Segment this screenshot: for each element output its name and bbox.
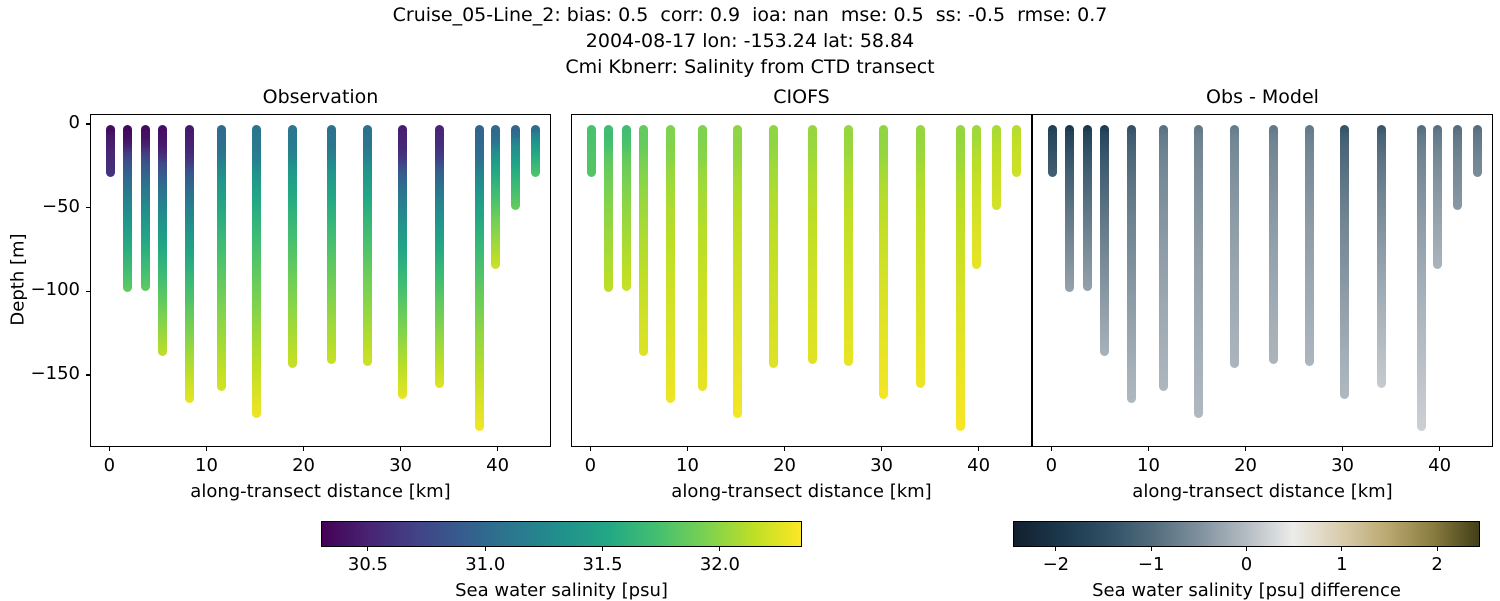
x-axis-tick-label: 0	[550, 455, 630, 476]
x-axis-tick	[687, 447, 688, 451]
ctd-cast-profile	[1473, 125, 1482, 177]
ctd-cast-profile	[1083, 125, 1092, 291]
ctd-cast-profile	[1305, 125, 1314, 366]
ctd-cast-profile	[769, 125, 778, 368]
ctd-cast-profile	[1012, 125, 1021, 177]
ctd-cast-profile	[666, 125, 675, 403]
ctd-cast-profile	[639, 125, 648, 356]
x-axis-tick-label: 10	[166, 455, 246, 476]
panel-title-ciofs: CIOFS	[571, 86, 1032, 108]
x-axis-tick-label: 40	[458, 455, 538, 476]
x-axis-tick-label: 40	[1400, 455, 1480, 476]
figure-suptitle-line-2: 2004-08-17 lon: -153.24 lat: 58.84	[0, 30, 1500, 52]
ctd-cast-profile	[106, 125, 115, 177]
colorbar-tick-label: −1	[1111, 554, 1191, 575]
ctd-cast-profile	[1269, 125, 1278, 364]
colorbar-tick	[367, 547, 368, 551]
ctd-cast-profile	[185, 125, 194, 403]
y-axis-tick-label: −50	[0, 196, 80, 217]
colorbar-tick	[1246, 547, 1247, 551]
figure-suptitle-line-1: Cruise_05-Line_2: bias: 0.5 corr: 0.9 io…	[0, 4, 1500, 26]
x-axis-tick	[978, 447, 979, 451]
y-axis-tick-label: −150	[0, 363, 80, 384]
x-axis-tick	[109, 447, 110, 451]
ctd-cast-profile	[844, 125, 853, 366]
colorbar-tick-label: 32.0	[680, 554, 760, 575]
ctd-cast-profile	[1065, 125, 1074, 292]
ctd-cast-profile	[916, 125, 925, 388]
colorbar-tick-label: 1	[1302, 554, 1382, 575]
ctd-cast-profile	[622, 125, 631, 291]
x-axis-tick	[1051, 447, 1052, 451]
ctd-cast-profile	[435, 125, 444, 388]
ctd-cast-profile	[531, 125, 540, 177]
x-axis-tick	[1439, 447, 1440, 451]
ctd-cast-profile	[1417, 125, 1426, 431]
colorbar-label-salinity-difference: Sea water salinity [psu] difference	[1013, 580, 1480, 601]
ctd-cast-profile	[698, 125, 707, 391]
plot-area-observation	[91, 115, 550, 446]
x-axis-tick	[206, 447, 207, 451]
colorbar-tick-label: 2	[1397, 554, 1477, 575]
y-axis-tick-label: 0	[0, 112, 80, 133]
colorbar-tick-label: 31.5	[563, 554, 643, 575]
y-axis-tick	[86, 291, 90, 292]
colorbar-tick	[602, 547, 603, 551]
ctd-cast-profile	[288, 125, 297, 368]
plot-area-obs-minus-model	[1033, 115, 1492, 446]
colorbar-tick-label: 0	[1207, 554, 1287, 575]
ctd-cast-profile	[972, 125, 981, 269]
colorbar-tick	[1151, 547, 1152, 551]
x-axis-tick	[881, 447, 882, 451]
ctd-cast-profile	[158, 125, 167, 356]
x-axis-tick-label: 30	[361, 455, 441, 476]
plot-area-ciofs	[572, 115, 1031, 446]
x-axis-tick-label: 10	[1108, 455, 1188, 476]
ctd-cast-profile	[956, 125, 965, 431]
panel-title-obs-minus-model: Obs - Model	[1032, 86, 1493, 108]
colorbar-salinity-difference	[1013, 521, 1480, 547]
figure-canvas: Cruise_05-Line_2: bias: 0.5 corr: 0.9 io…	[0, 0, 1500, 600]
figure-suptitle-line-3: Cmi Kbnerr: Salinity from CTD transect	[0, 56, 1500, 78]
y-axis-tick	[86, 123, 90, 124]
colorbar-tick	[1341, 547, 1342, 551]
colorbar-tick-label: −2	[1016, 554, 1096, 575]
x-axis-tick-label: 20	[264, 455, 344, 476]
colorbar-tick	[485, 547, 486, 551]
ctd-cast-profile	[141, 125, 150, 291]
ctd-cast-profile	[398, 125, 407, 399]
x-axis-tick-label: 20	[1206, 455, 1286, 476]
x-axis-tick-label: 30	[842, 455, 922, 476]
ctd-cast-profile	[733, 125, 742, 418]
ctd-cast-profile	[491, 125, 500, 269]
y-axis-tick-label: −100	[0, 279, 80, 300]
ctd-cast-profile	[1453, 125, 1462, 210]
x-axis-tick	[1342, 447, 1343, 451]
ctd-cast-profile	[1433, 125, 1442, 269]
ctd-cast-profile	[604, 125, 613, 292]
ctd-cast-profile	[217, 125, 226, 391]
x-axis-tick	[590, 447, 591, 451]
ctd-cast-profile	[1230, 125, 1239, 368]
ctd-cast-profile	[879, 125, 888, 399]
x-axis-tick	[784, 447, 785, 451]
ctd-cast-profile	[252, 125, 261, 418]
ctd-cast-profile	[1048, 125, 1057, 177]
colorbar-tick	[1055, 547, 1056, 551]
panel-title-observation: Observation	[90, 86, 551, 108]
colorbar-label-salinity: Sea water salinity [psu]	[321, 580, 802, 601]
ctd-cast-profile	[1127, 125, 1136, 403]
ctd-cast-profile	[475, 125, 484, 431]
x-axis-tick-label: 0	[69, 455, 149, 476]
x-axis-tick	[303, 447, 304, 451]
x-axis-tick-label: 30	[1303, 455, 1383, 476]
ctd-cast-profile	[363, 125, 372, 366]
colorbar-tick-label: 30.5	[328, 554, 408, 575]
plot-panel-observation	[90, 114, 551, 447]
colorbar-tick	[1437, 547, 1438, 551]
x-axis-tick	[1148, 447, 1149, 451]
ctd-cast-profile	[511, 125, 520, 210]
colorbar-tick-label: 31.0	[445, 554, 525, 575]
ctd-cast-profile	[992, 125, 1001, 210]
ctd-cast-profile	[587, 125, 596, 177]
ctd-cast-profile	[1377, 125, 1386, 388]
y-axis-tick	[86, 207, 90, 208]
x-axis-label: along-transect distance [km]	[90, 481, 551, 502]
x-axis-tick	[400, 447, 401, 451]
ctd-cast-profile	[1100, 125, 1109, 356]
plot-panel-ciofs	[571, 114, 1032, 447]
ctd-cast-profile	[123, 125, 132, 292]
ctd-cast-profile	[327, 125, 336, 364]
plot-panel-obs-minus-model	[1032, 114, 1493, 447]
colorbar-tick	[719, 547, 720, 551]
x-axis-tick-label: 0	[1011, 455, 1091, 476]
ctd-cast-profile	[808, 125, 817, 364]
x-axis-label: along-transect distance [km]	[1032, 481, 1493, 502]
x-axis-label: along-transect distance [km]	[571, 481, 1032, 502]
ctd-cast-profile	[1340, 125, 1349, 399]
x-axis-tick-label: 40	[939, 455, 1019, 476]
x-axis-tick-label: 10	[647, 455, 727, 476]
ctd-cast-profile	[1194, 125, 1203, 418]
ctd-cast-profile	[1159, 125, 1168, 391]
x-axis-tick-label: 20	[745, 455, 825, 476]
y-axis-tick	[86, 374, 90, 375]
x-axis-tick	[497, 447, 498, 451]
colorbar-salinity	[321, 521, 802, 547]
x-axis-tick	[1245, 447, 1246, 451]
